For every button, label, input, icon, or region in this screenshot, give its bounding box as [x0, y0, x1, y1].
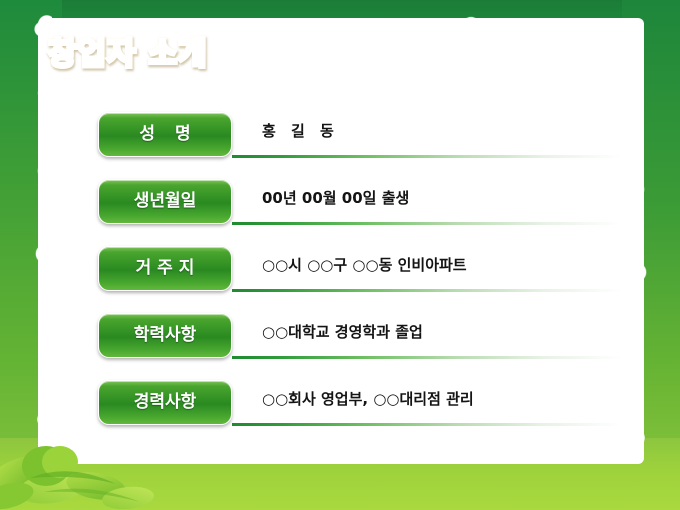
label-button-name[interactable]: 성 명 [98, 112, 232, 157]
value-education: ○○대학교 경영학과 졸업 [262, 321, 423, 342]
page-title: 창업자 소개 [48, 28, 207, 73]
label-button-birthdate[interactable]: 생년월일 [98, 179, 232, 224]
row-underline [232, 423, 622, 426]
label-button-text: 거 주 지 [136, 260, 195, 277]
label-button-text: 생년월일 [134, 193, 197, 210]
row-underline [232, 289, 622, 292]
table-row: 거 주 지 ○○시 ○○구 ○○동 인비아파트 [0, 246, 680, 313]
row-underline [232, 356, 622, 359]
value-name: 홍 길 동 [262, 120, 339, 141]
label-button-education[interactable]: 학력사항 [98, 313, 232, 358]
table-row: 경력사항 ○○회사 영업부, ○○대리점 관리 [0, 380, 680, 447]
row-underline [232, 155, 622, 158]
label-button-text: 경력사항 [134, 394, 197, 411]
slide-canvas: 창업자 소개 성 명 홍 길 동 생년월일 00년 00월 00일 출생 거 주… [0, 0, 680, 510]
label-button-residence[interactable]: 거 주 지 [98, 246, 232, 291]
value-residence: ○○시 ○○구 ○○동 인비아파트 [262, 254, 467, 275]
label-button-career[interactable]: 경력사항 [98, 380, 232, 425]
info-rows: 성 명 홍 길 동 생년월일 00년 00월 00일 출생 거 주 지 ○○시 … [0, 112, 680, 447]
label-button-text: 성 명 [132, 126, 197, 143]
row-underline [232, 222, 622, 225]
table-row: 학력사항 ○○대학교 경영학과 졸업 [0, 313, 680, 380]
label-button-text: 학력사항 [134, 327, 197, 344]
table-row: 생년월일 00년 00월 00일 출생 [0, 179, 680, 246]
value-birthdate: 00년 00월 00일 출생 [262, 187, 409, 208]
value-career: ○○회사 영업부, ○○대리점 관리 [262, 388, 474, 409]
table-row: 성 명 홍 길 동 [0, 112, 680, 179]
